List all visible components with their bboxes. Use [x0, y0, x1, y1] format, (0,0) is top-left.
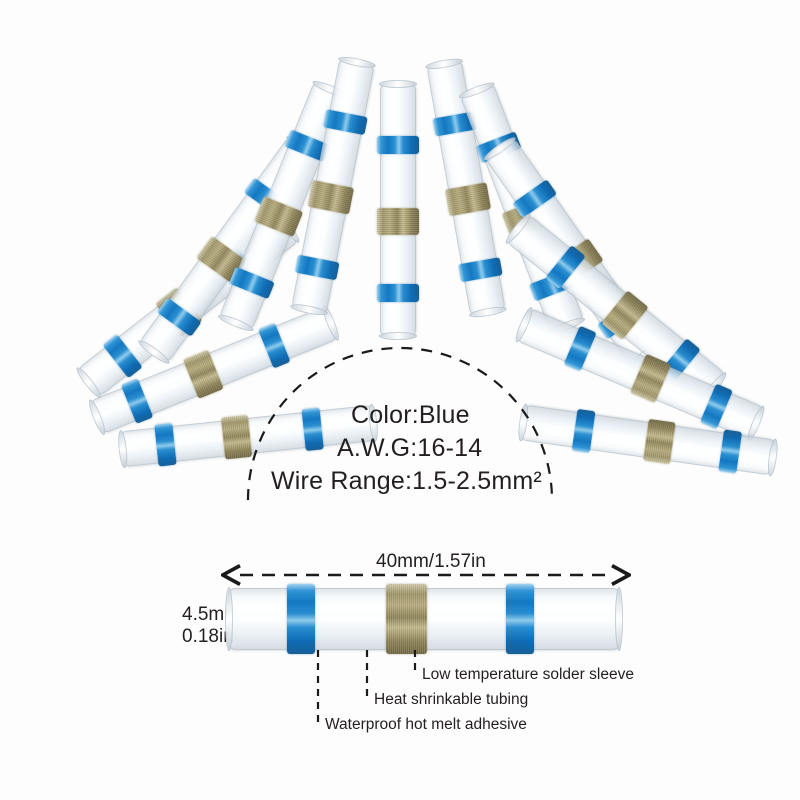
callout-label-1: Low temperature solder sleeve [422, 666, 634, 684]
callout-label-3: Waterproof hot melt adhesive [325, 716, 527, 734]
callout-label-2: Heat shrinkable tubing [374, 691, 528, 709]
product-image-canvas: Color:Blue A.W.G:16-14 Wire Range:1.5-2.… [0, 0, 800, 800]
callout-leader-lines [0, 0, 800, 800]
